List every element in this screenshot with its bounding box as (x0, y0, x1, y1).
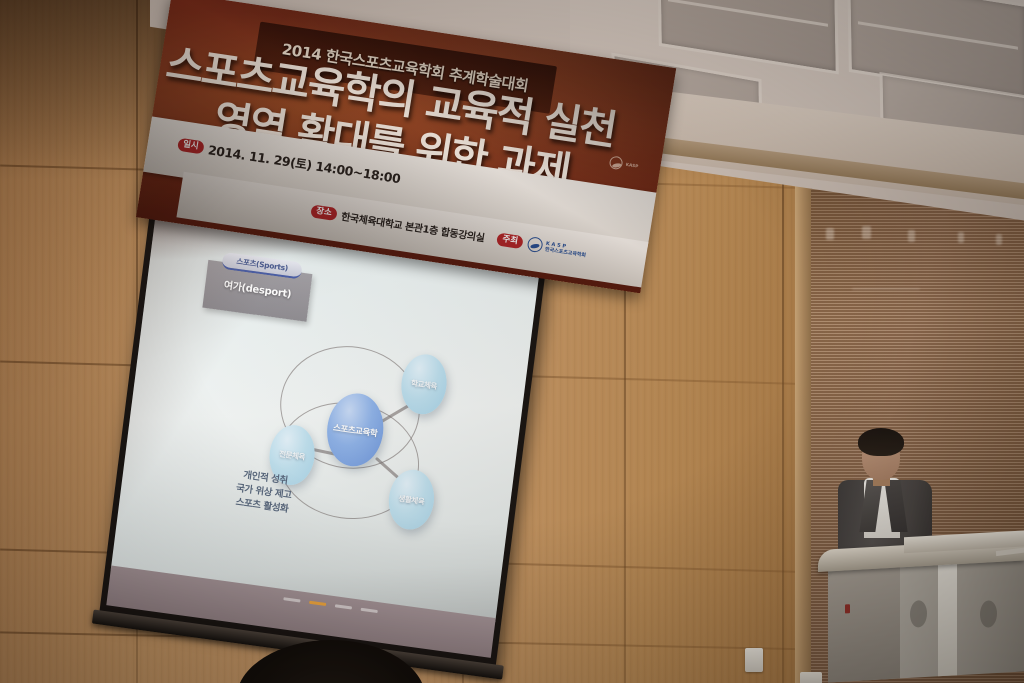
nav-dash[interactable] (335, 604, 352, 609)
bubble-bottom-right-label: 생활체육 (398, 492, 425, 506)
wall-outlet-secondary (800, 672, 822, 683)
podium-light-stripe (938, 562, 957, 676)
nav-dash[interactable] (361, 608, 378, 613)
nav-dash-active[interactable] (309, 601, 326, 606)
podium-indicator-light (845, 604, 850, 613)
nav-dash[interactable] (283, 597, 300, 602)
bubble-center-label: 스포츠교육학 (332, 421, 378, 439)
podium-front-panel (828, 563, 900, 682)
venn-bubble-diagram: 학교체육 스포츠교육학 전문체육 생활체육 (239, 321, 491, 580)
wall-glint (826, 228, 834, 240)
podium (818, 528, 1024, 683)
wall-glint (908, 230, 915, 242)
wall-glint (958, 232, 964, 243)
bubble-left-label: 전문체육 (279, 448, 306, 462)
slide-nav-dashes[interactable] (283, 597, 378, 613)
wall-corner-post (795, 120, 811, 683)
wall-outlet (745, 648, 763, 672)
bubble-top-label: 학교체육 (410, 377, 437, 391)
wall-glint (862, 226, 871, 239)
sport-tab-label: 스포츠(Sports) (236, 256, 289, 274)
wall-glint (996, 234, 1002, 245)
speaker-hair (858, 428, 904, 456)
wall-glint (852, 288, 920, 290)
conference-photo-scene: 스포츠교육학과 전문체육 여가(desport) 스포츠(Sports) 학교체… (0, 0, 1024, 683)
